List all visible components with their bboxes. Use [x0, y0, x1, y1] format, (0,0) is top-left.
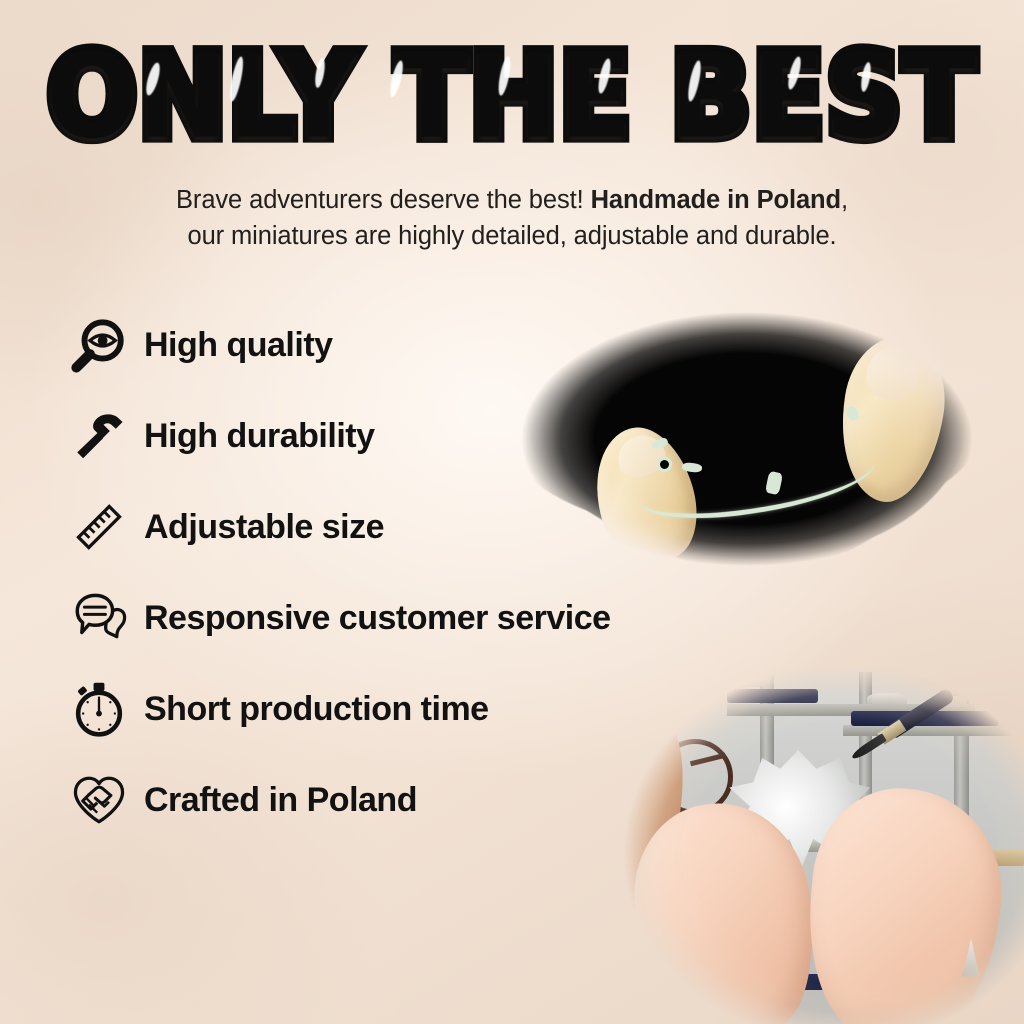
ink-speck: [512, 415, 521, 424]
subtitle: Brave adventurers deserve the best! Hand…: [0, 182, 1024, 254]
magnifier-eye-icon: [60, 310, 138, 380]
shelf-beam: [843, 725, 1024, 736]
miniature-bits: [736, 675, 770, 687]
ink-speck: [527, 373, 541, 385]
promo-poster: ONLY THE BEST Brave adventurers deserve …: [0, 0, 1024, 1024]
page-title: ONLY THE BEST: [47, 38, 977, 154]
miniature-bits: [867, 693, 907, 706]
ink-speck: [552, 337, 563, 347]
workshop-painting-photo: [612, 668, 1024, 1024]
feature-label: Adjustable size: [144, 508, 384, 547]
feature-item-customer-service: Responsive customer service: [60, 581, 780, 655]
ink-speck: [727, 295, 739, 304]
hammer-icon: [60, 401, 138, 471]
ink-speck: [957, 391, 967, 401]
ruler-icon: [60, 492, 138, 562]
torn-edge-mask: [612, 668, 1024, 1024]
subtitle-bold: Handmade in Poland: [591, 186, 841, 214]
miniature-ring: [657, 457, 672, 472]
flexible-miniature-photo: [497, 283, 997, 583]
ink-speck: [937, 343, 945, 351]
miniature-tray: [727, 689, 818, 703]
subtitle-line2: our miniatures are highly detailed, adju…: [187, 222, 836, 250]
subtitle-tail: ,: [841, 186, 848, 214]
subtitle-lead: Brave adventurers deserve the best!: [176, 186, 591, 214]
speech-bubbles-icon: [60, 583, 138, 653]
feature-label: High quality: [144, 326, 333, 365]
torn-edge-mask: [497, 283, 997, 583]
heart-handshake-icon: [60, 765, 138, 835]
feature-label: Short production time: [144, 690, 489, 729]
title-block: ONLY THE BEST: [0, 38, 1024, 142]
stopwatch-icon: [60, 674, 138, 744]
feature-label: Crafted in Poland: [144, 781, 417, 820]
feature-label: Responsive customer service: [144, 599, 611, 638]
ink-speck: [802, 562, 812, 570]
feature-label: High durability: [144, 417, 375, 456]
